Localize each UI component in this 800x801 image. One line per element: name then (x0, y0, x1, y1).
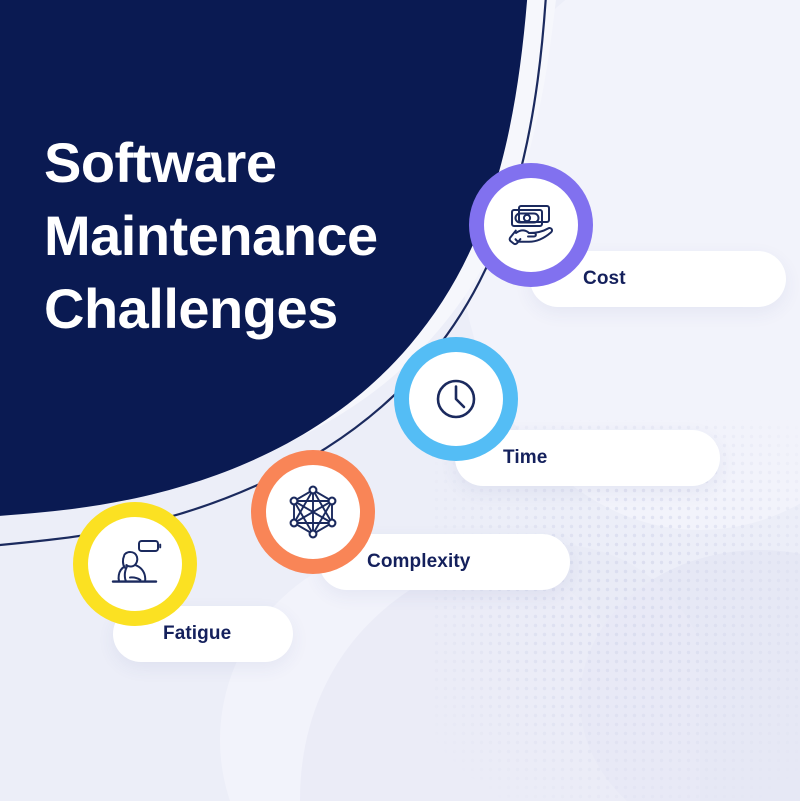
node-cost-inner (484, 178, 578, 272)
clock-icon (428, 371, 484, 427)
hand-holding-money-icon (501, 195, 561, 255)
node-fatigue-inner (88, 517, 182, 611)
pill-label-complexity: Complexity (367, 551, 470, 573)
pill-label-time: Time (503, 447, 547, 469)
node-cost[interactable] (469, 163, 593, 287)
tired-person-battery-icon (104, 533, 166, 595)
pill-label-fatigue: Fatigue (163, 623, 231, 645)
node-fatigue[interactable] (73, 502, 197, 626)
node-time-inner (409, 352, 503, 446)
node-complexity[interactable] (251, 450, 375, 574)
node-time[interactable] (394, 337, 518, 461)
node-complexity-inner (266, 465, 360, 559)
network-graph-icon (282, 481, 344, 543)
page-title: Software Maintenance Challenges (44, 126, 464, 345)
infographic-canvas: Software Maintenance Challenges Cost Tim… (0, 0, 800, 801)
pill-label-cost: Cost (583, 268, 626, 290)
